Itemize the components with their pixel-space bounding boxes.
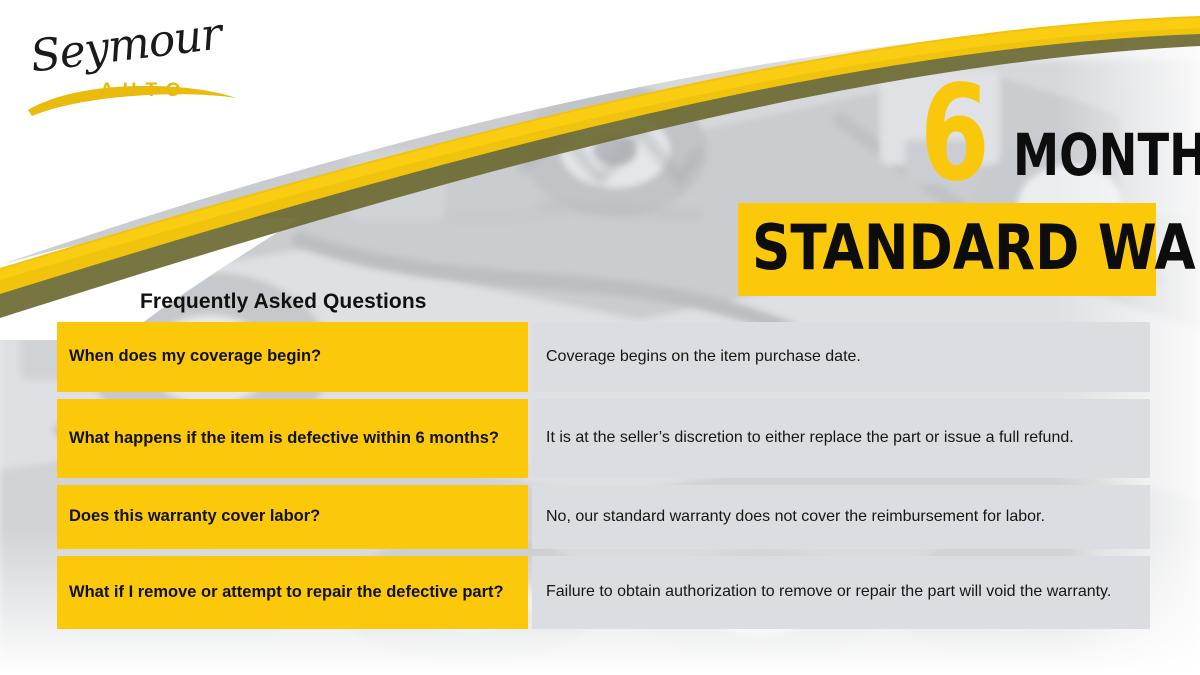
faq-answer-text: No, our standard warranty does not cover…: [546, 507, 1138, 528]
warranty-duration-unit: MONTH: [1013, 126, 1200, 184]
table-row: Does this warranty cover labor? No, our …: [57, 485, 1150, 549]
warranty-slide: Seymour AUTO 6 MONTH STANDARD WARRANTY F…: [0, 0, 1200, 675]
faq-answer-text: It is at the seller’s discretion to eith…: [546, 428, 1138, 449]
seymour-auto-logo: Seymour AUTO: [22, 18, 252, 128]
faq-answer-text: Coverage begins on the item purchase dat…: [546, 347, 1138, 368]
faq-question-cell: When does my coverage begin?: [57, 322, 528, 392]
logo-auto-text: AUTO: [100, 80, 189, 102]
faq-question-cell: Does this warranty cover labor?: [57, 485, 528, 549]
faq-heading: Frequently Asked Questions: [140, 290, 427, 314]
faq-table: When does my coverage begin? Coverage be…: [57, 322, 1150, 629]
table-row: When does my coverage begin? Coverage be…: [57, 322, 1150, 392]
faq-question-cell: What happens if the item is defective wi…: [57, 399, 528, 478]
faq-question-cell: What if I remove or attempt to repair th…: [57, 556, 528, 629]
faq-answer-cell: It is at the seller’s discretion to eith…: [532, 399, 1150, 478]
faq-answer-text: Failure to obtain authorization to remov…: [546, 582, 1138, 603]
standard-warranty-label: STANDARD WARRANTY: [752, 217, 1200, 279]
faq-answer-cell: No, our standard warranty does not cover…: [532, 485, 1150, 549]
warranty-duration-number: 6: [920, 68, 988, 200]
faq-answer-cell: Coverage begins on the item purchase dat…: [532, 322, 1150, 392]
table-row: What happens if the item is defective wi…: [57, 399, 1150, 478]
faq-answer-cell: Failure to obtain authorization to remov…: [532, 556, 1150, 629]
table-row: What if I remove or attempt to repair th…: [57, 556, 1150, 629]
